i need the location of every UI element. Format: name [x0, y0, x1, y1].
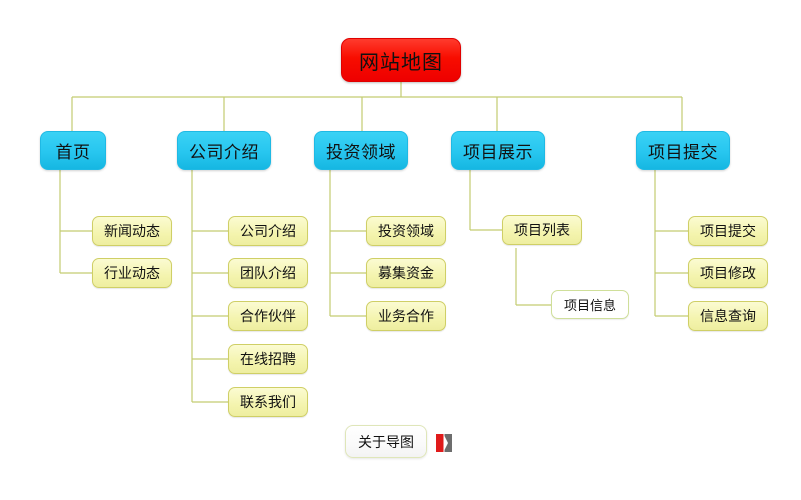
node-leaf-project-submit[interactable]: 项目提交: [688, 216, 768, 246]
node-branch-projects[interactable]: 项目展示: [451, 131, 545, 170]
mindmap-logo-icon: [436, 434, 452, 452]
node-leaf-fundraising-label: 募集资金: [378, 263, 434, 283]
node-branch-submit-label: 项目提交: [648, 138, 718, 163]
node-leaf-partners[interactable]: 合作伙伴: [228, 301, 308, 331]
node-leaf-project-submit-label: 项目提交: [700, 221, 756, 241]
node-leaf-contact-us-label: 联系我们: [240, 392, 296, 412]
node-leaf-investment-area[interactable]: 投资领域: [366, 216, 446, 246]
node-root-label: 网站地图: [359, 46, 443, 75]
node-branch-investment-label: 投资领域: [326, 138, 396, 163]
node-leaf-recruitment-label: 在线招聘: [240, 349, 296, 369]
about-mindmap-label: 关于导图: [358, 432, 414, 452]
node-leaf-info-query-label: 信息查询: [700, 306, 756, 326]
node-leaf-industry-news[interactable]: 行业动态: [92, 258, 172, 288]
node-leaf-project-edit[interactable]: 项目修改: [688, 258, 768, 288]
node-leaf-contact-us[interactable]: 联系我们: [228, 387, 308, 417]
node-leaf-industry-news-label: 行业动态: [104, 263, 160, 283]
node-leaf-investment-area-label: 投资领域: [378, 221, 434, 241]
node-leaf-business-cooperation-label: 业务合作: [378, 306, 434, 326]
node-branch-home[interactable]: 首页: [40, 131, 106, 170]
node-leaf-project-list[interactable]: 项目列表: [502, 215, 582, 245]
node-leaf-news-label: 新闻动态: [104, 221, 160, 241]
node-leaf-project-info-label: 项目信息: [564, 295, 616, 314]
node-leaf-company-intro-label: 公司介绍: [240, 221, 296, 241]
node-branch-investment[interactable]: 投资领域: [314, 131, 408, 170]
node-branch-company[interactable]: 公司介绍: [177, 131, 271, 170]
node-leaf-info-query[interactable]: 信息查询: [688, 301, 768, 331]
node-branch-company-label: 公司介绍: [189, 138, 259, 163]
node-leaf-team-intro[interactable]: 团队介绍: [228, 258, 308, 288]
node-leaf-project-edit-label: 项目修改: [700, 263, 756, 283]
mindmap-canvas: 网站地图 首页 公司介绍 投资领域 项目展示 项目提交 新闻动态 行业动态 公司…: [0, 0, 801, 500]
about-mindmap-button[interactable]: 关于导图: [345, 425, 427, 458]
node-leaf-project-list-label: 项目列表: [514, 220, 570, 240]
node-leaf-company-intro[interactable]: 公司介绍: [228, 216, 308, 246]
node-leaf-fundraising[interactable]: 募集资金: [366, 258, 446, 288]
node-leaf-partners-label: 合作伙伴: [240, 306, 296, 326]
node-leaf-recruitment[interactable]: 在线招聘: [228, 344, 308, 374]
node-leaf-project-info[interactable]: 项目信息: [551, 290, 629, 319]
node-leaf-business-cooperation[interactable]: 业务合作: [366, 301, 446, 331]
node-branch-home-label: 首页: [56, 138, 91, 163]
node-root[interactable]: 网站地图: [341, 38, 461, 82]
node-leaf-team-intro-label: 团队介绍: [240, 263, 296, 283]
node-branch-projects-label: 项目展示: [463, 138, 533, 163]
node-leaf-news[interactable]: 新闻动态: [92, 216, 172, 246]
node-branch-submit[interactable]: 项目提交: [636, 131, 730, 170]
